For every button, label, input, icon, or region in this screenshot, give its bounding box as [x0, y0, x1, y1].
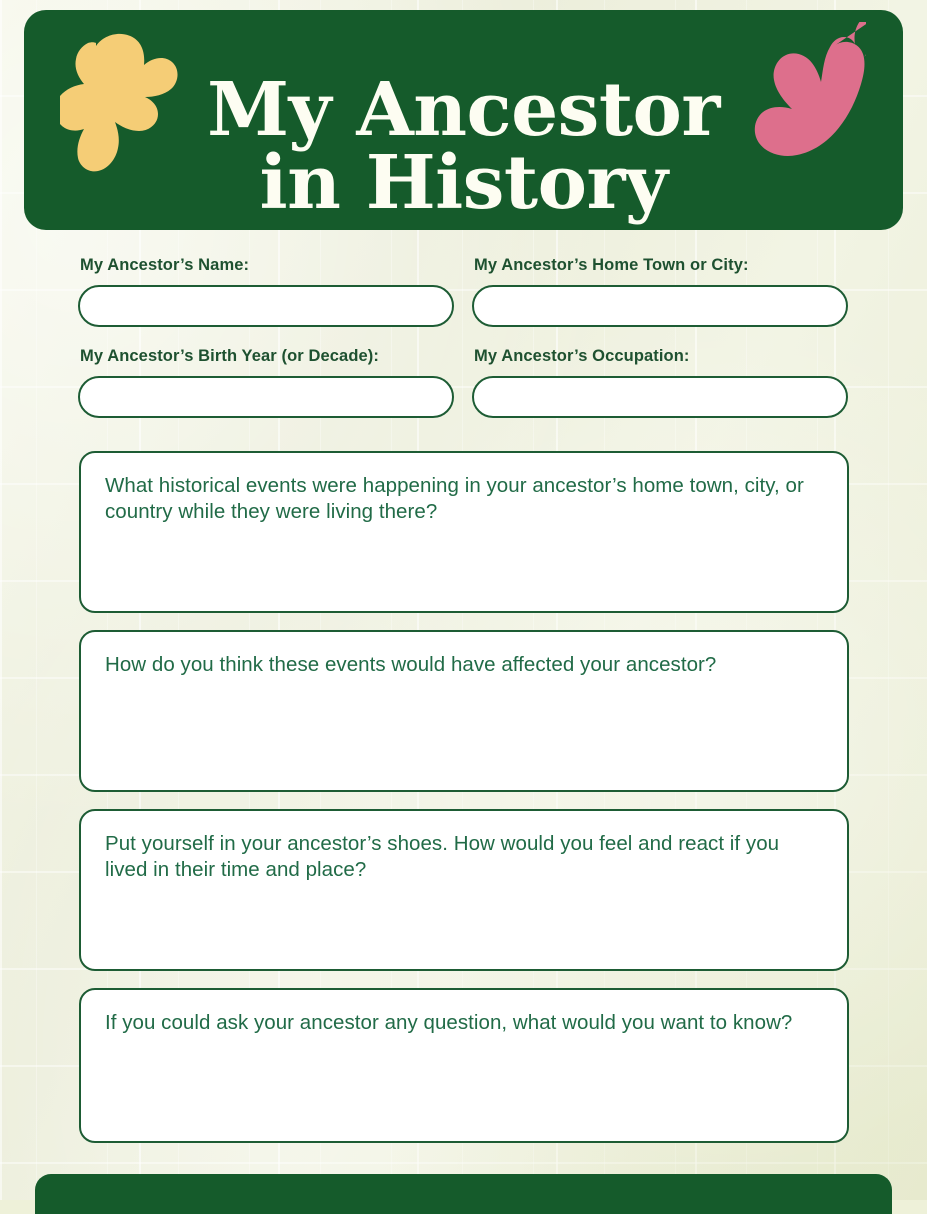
question-text-4: If you could ask your ancestor any quest… [105, 1010, 825, 1036]
question-text-2: How do you think these events would have… [105, 652, 825, 678]
question-box-2[interactable]: How do you think these events would have… [79, 630, 849, 792]
question-box-4[interactable]: If you could ask your ancestor any quest… [79, 988, 849, 1143]
question-box-3[interactable]: Put yourself in your ancestor’s shoes. H… [79, 809, 849, 971]
page-title-line-2: in History [24, 147, 903, 220]
question-box-1[interactable]: What historical events were happening in… [79, 451, 849, 613]
header-banner: My Ancestor in History [24, 10, 903, 230]
field-group-occupation: My Ancestor’s Occupation: [472, 327, 848, 418]
input-ancestor-name[interactable] [78, 285, 454, 327]
label-occupation: My Ancestor’s Occupation: [474, 347, 848, 367]
field-group-birth-year: My Ancestor’s Birth Year (or Decade): [78, 327, 454, 418]
label-home-town: My Ancestor’s Home Town or City: [474, 256, 848, 276]
page-title: My Ancestor in History [24, 74, 903, 221]
field-row-1: My Ancestor’s Name: My Ancestor’s Home T… [78, 256, 849, 327]
input-occupation[interactable] [472, 376, 848, 418]
label-birth-year: My Ancestor’s Birth Year (or Decade): [80, 347, 454, 367]
input-home-town[interactable] [472, 285, 848, 327]
ancestor-details-form: My Ancestor’s Name: My Ancestor’s Home T… [78, 256, 849, 418]
field-row-2: My Ancestor’s Birth Year (or Decade): My… [78, 327, 849, 418]
input-birth-year[interactable] [78, 376, 454, 418]
question-text-3: Put yourself in your ancestor’s shoes. H… [105, 831, 825, 883]
label-ancestor-name: My Ancestor’s Name: [80, 256, 454, 276]
worksheet-page: My Ancestor in History My Ancestor’s Nam… [0, 0, 927, 1200]
questions-section: What historical events were happening in… [79, 451, 849, 1143]
field-group-ancestor-name: My Ancestor’s Name: [78, 256, 454, 327]
question-text-1: What historical events were happening in… [105, 473, 825, 525]
field-group-home-town: My Ancestor’s Home Town or City: [472, 256, 848, 327]
footer-bar [35, 1174, 892, 1214]
